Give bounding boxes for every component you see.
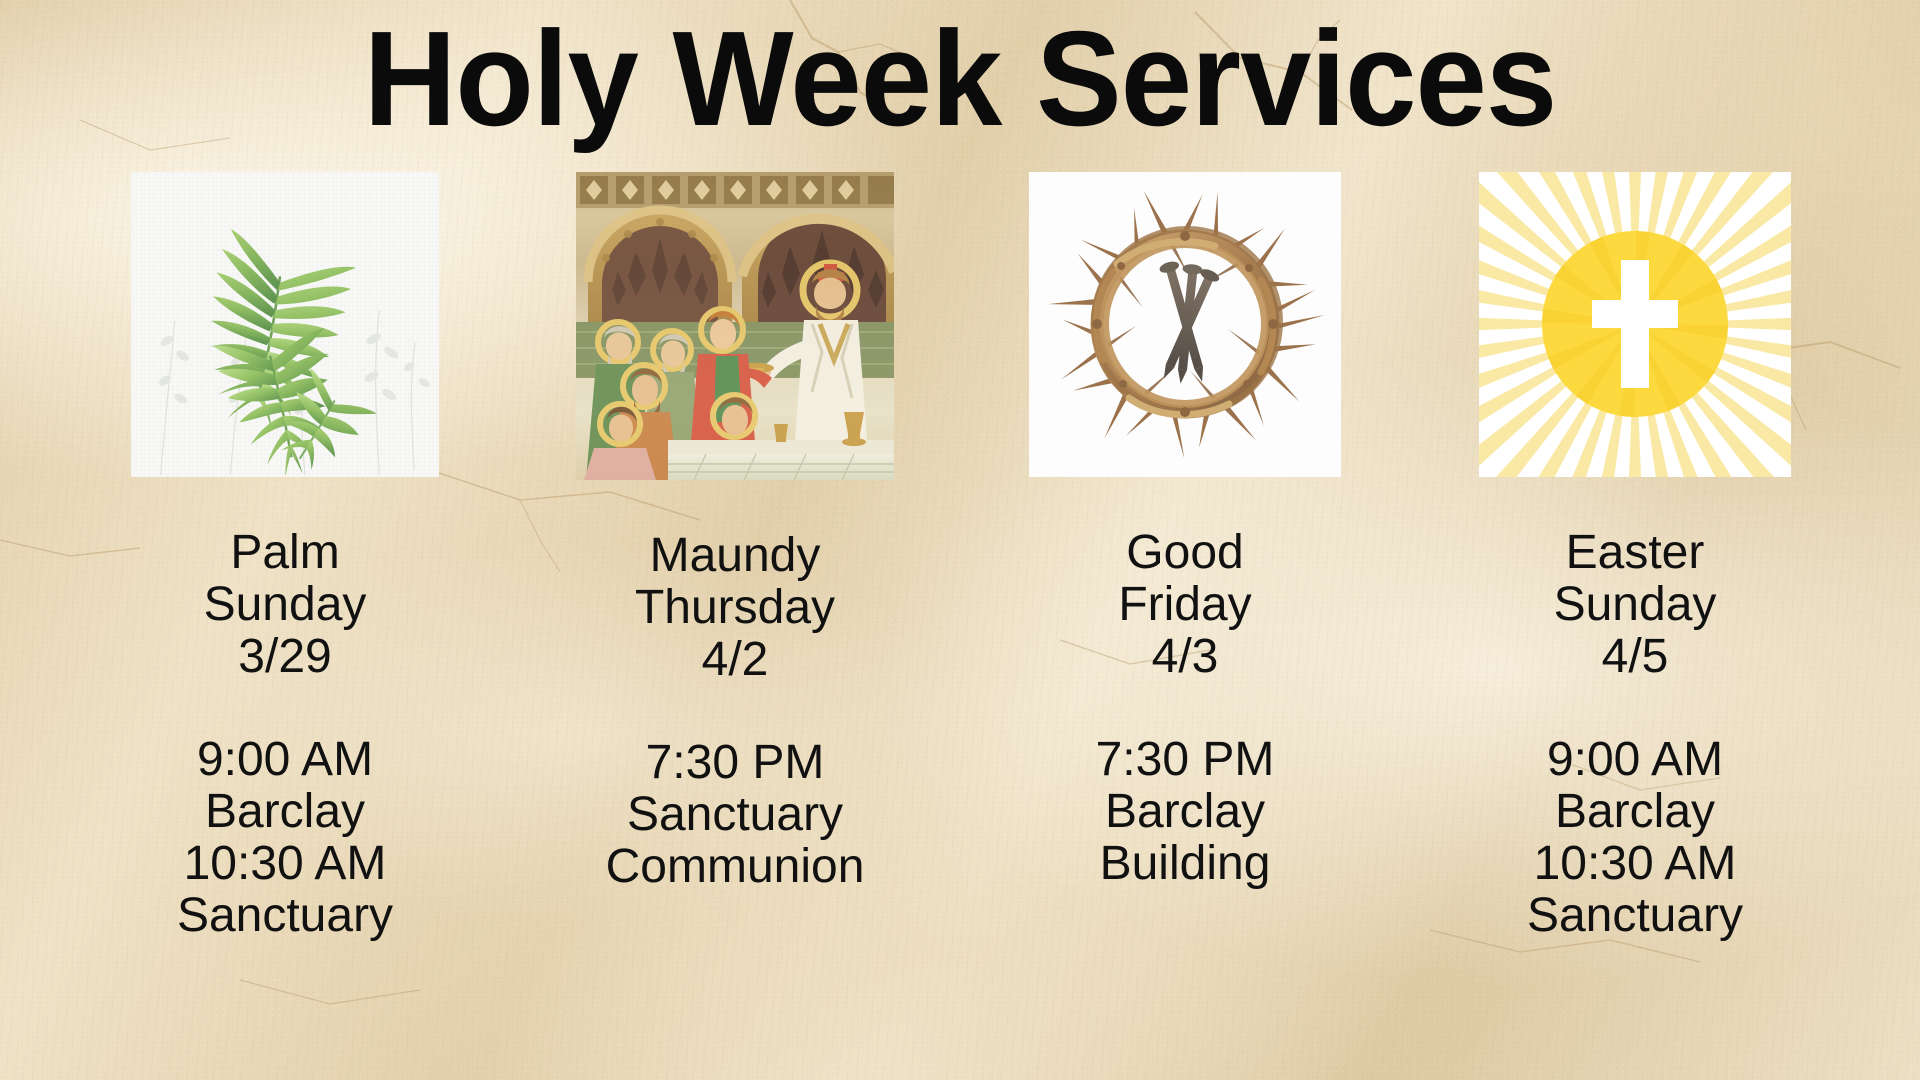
service-name-palm-sunday: Palm Sunday 3/29 — [204, 527, 367, 682]
service-name-maundy-thursday: Maundy Thursday 4/2 — [635, 530, 835, 685]
crown-of-thorns-illustration — [1029, 172, 1341, 477]
services-row: Palm Sunday 3/29 9:00 AM Barclay 10:30 A… — [0, 172, 1920, 1072]
service-details-good-friday: 7:30 PM Barclay Building — [1096, 734, 1275, 889]
service-date-palm-sunday: 3/29 — [238, 630, 331, 683]
sunburst-cross-image — [1479, 172, 1791, 477]
service-column-palm-sunday: Palm Sunday 3/29 9:00 AM Barclay 10:30 A… — [95, 172, 475, 942]
palm-leaves-illustration — [131, 172, 439, 475]
service-column-good-friday: Good Friday 4/3 7:30 PM Barclay Building — [995, 172, 1375, 890]
service-date-easter-sunday: 4/5 — [1602, 630, 1669, 683]
service-details-maundy-thursday: 7:30 PM Sanctuary Communion — [606, 737, 865, 892]
page-title: Holy Week Services — [48, 8, 1872, 150]
service-name-good-friday: Good Friday 4/3 — [1118, 527, 1251, 682]
service-date-maundy-thursday: 4/2 — [702, 633, 769, 686]
service-details-palm-sunday: 9:00 AM Barclay 10:30 AM Sanctuary — [177, 734, 393, 941]
crown-of-thorns-image — [1029, 172, 1341, 477]
sunburst-cross-illustration — [1479, 172, 1791, 477]
service-name-easter-sunday: Easter Sunday 4/5 — [1554, 527, 1717, 682]
last-supper-image — [576, 172, 894, 480]
service-details-easter-sunday: 9:00 AM Barclay 10:30 AM Sanctuary — [1527, 734, 1743, 941]
service-column-maundy-thursday: Maundy Thursday 4/2 7:30 PM Sanctuary Co… — [545, 172, 925, 893]
sunburst-background — [1479, 172, 1791, 477]
palm-leaves-image — [131, 172, 439, 477]
last-supper-illustration — [576, 172, 894, 480]
service-date-good-friday: 4/3 — [1152, 630, 1219, 683]
service-column-easter-sunday: Easter Sunday 4/5 9:00 AM Barclay 10:30 … — [1445, 172, 1825, 942]
